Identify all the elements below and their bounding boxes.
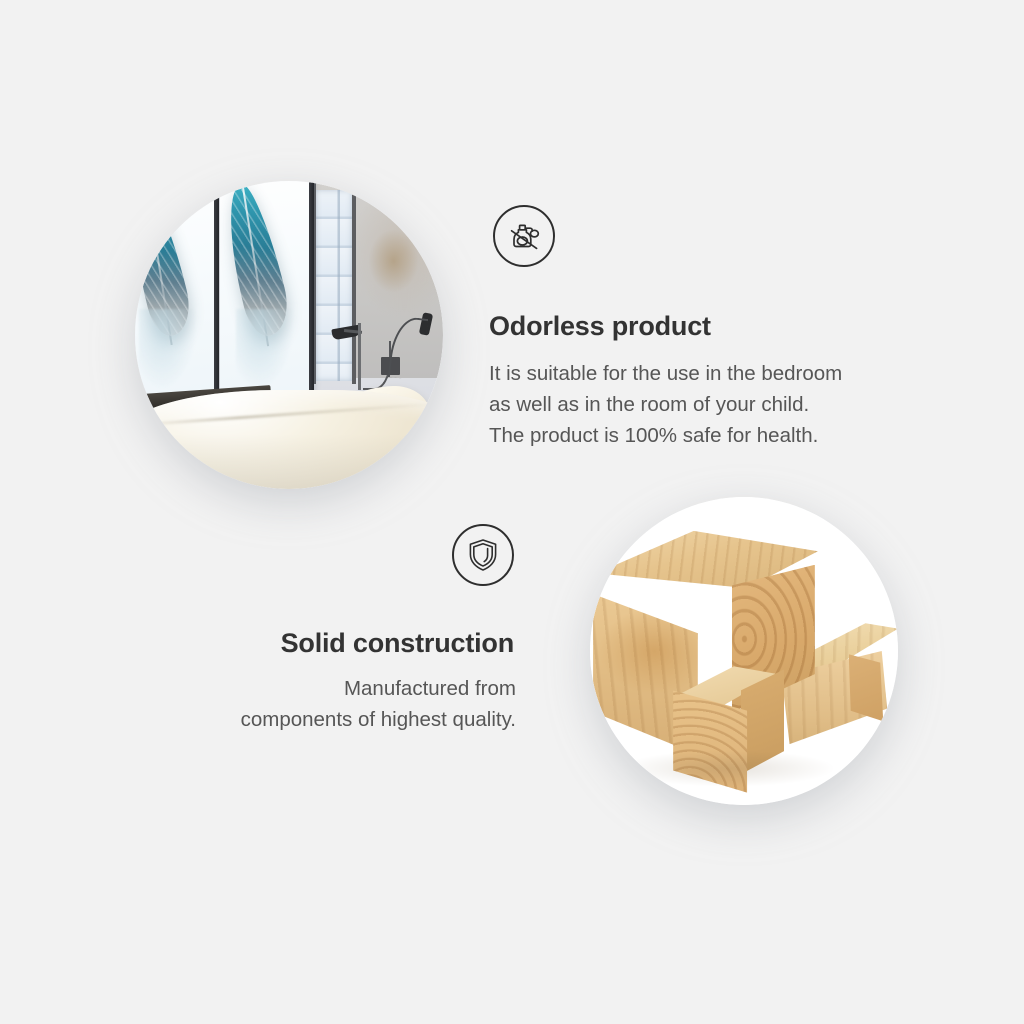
- no-perfume-glyph: [503, 215, 545, 257]
- wood-blocks-scene: [590, 497, 898, 805]
- feature-description-odorless: It is suitable for the use in the bedroo…: [489, 358, 842, 451]
- floor-shadow: [135, 434, 443, 489]
- duvet-fold: [135, 402, 441, 427]
- art-panel-center: [220, 181, 312, 403]
- window-frame-right: [352, 181, 356, 384]
- photo-clip: [590, 497, 898, 805]
- feather-wisp: [139, 309, 196, 389]
- shield-icon: [452, 524, 514, 586]
- bedroom-scene: [135, 181, 443, 489]
- feature-description-solid-construction: Manufactured from components of highest …: [241, 673, 516, 735]
- lamp-stand: [358, 323, 361, 391]
- wood-contact-shadow: [621, 750, 837, 787]
- art-panel-left: [135, 181, 215, 403]
- feature-title-solid-construction: Solid construction: [281, 628, 514, 659]
- beam-right-end-grain: [849, 648, 898, 753]
- product-feature-infographic: Odorless product It is suitable for the …: [0, 0, 1024, 1024]
- no-perfume-icon: [493, 205, 555, 267]
- photo-clip: [135, 181, 443, 489]
- feather-wisp: [236, 309, 293, 389]
- shield-glyph: [463, 535, 503, 575]
- wooden-beams-photo: [590, 497, 898, 805]
- glass-block-window: [315, 190, 352, 381]
- bedroom-feather-wall-art-photo: [135, 181, 443, 489]
- feature-title-odorless: Odorless product: [489, 311, 711, 342]
- panel-divider: [309, 181, 314, 403]
- panel-divider: [214, 181, 219, 403]
- wall-stain: [369, 230, 418, 292]
